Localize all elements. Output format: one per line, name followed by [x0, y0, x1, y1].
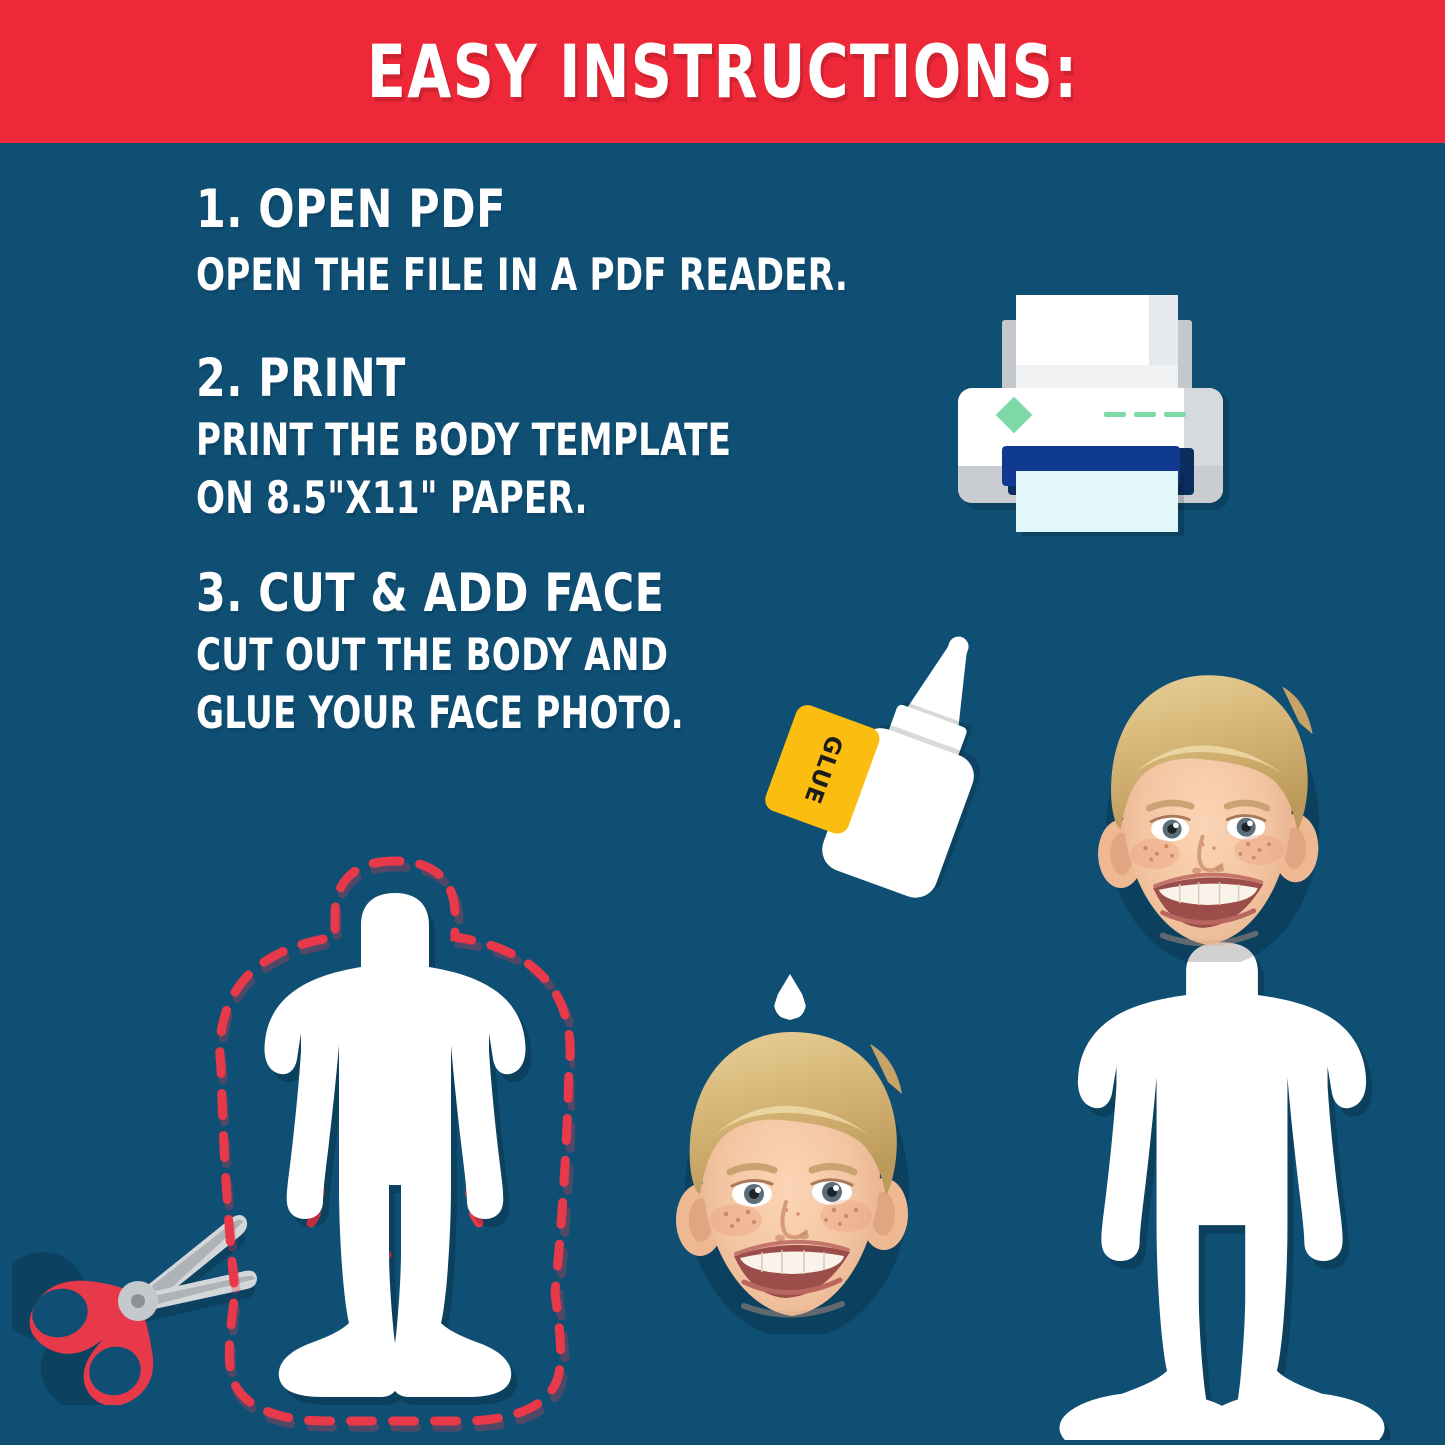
step-1-body: OPEN THE FILE IN A PDF READER.	[196, 246, 970, 304]
step-1-title: 1. OPEN PDF	[196, 182, 996, 238]
step-2-body: PRINT THE BODY TEMPLATE ON 8.5"X11" PAPE…	[196, 411, 970, 527]
step-2-line-2: ON 8.5"X11" PAPER.	[196, 469, 970, 527]
child-face-photo-cutout	[668, 1018, 924, 1334]
page-title: EASY INSTRUCTIONS:	[367, 28, 1079, 114]
glue-bottle-icon: GLUE	[764, 724, 1034, 1024]
step-1-line-1: OPEN THE FILE IN A PDF READER.	[196, 246, 970, 304]
step-1: 1. OPEN PDF OPEN THE FILE IN A PDF READE…	[196, 185, 1056, 300]
step-2: 2. PRINT PRINT THE BODY TEMPLATE ON 8.5"…	[196, 354, 1056, 519]
printer-indicator-dash-3-icon	[1164, 412, 1186, 417]
printer-indicator-dash-1-icon	[1104, 412, 1126, 417]
glue-label-text: GLUE	[798, 732, 847, 808]
glue-drop-icon	[774, 974, 806, 1020]
printer-icon	[944, 268, 1260, 568]
finished-body-feet	[1059, 1392, 1390, 1440]
body-template-with-face	[1032, 930, 1412, 1440]
finished-body-silhouette	[1078, 942, 1366, 1436]
child-face-photo-on-body	[1042, 662, 1382, 962]
banner: EASY INSTRUCTIONS:	[0, 0, 1445, 143]
body-template-with-cut-line	[215, 855, 575, 1445]
step-2-title: 2. PRINT	[196, 350, 996, 406]
poster-canvas: EASY INSTRUCTIONS: 1. OPEN PDF OPEN THE …	[0, 0, 1445, 1445]
printer-indicator-dash-2-icon	[1134, 412, 1156, 417]
printer-output-paper	[1016, 471, 1178, 532]
step-2-line-1: PRINT THE BODY TEMPLATE	[196, 411, 970, 469]
